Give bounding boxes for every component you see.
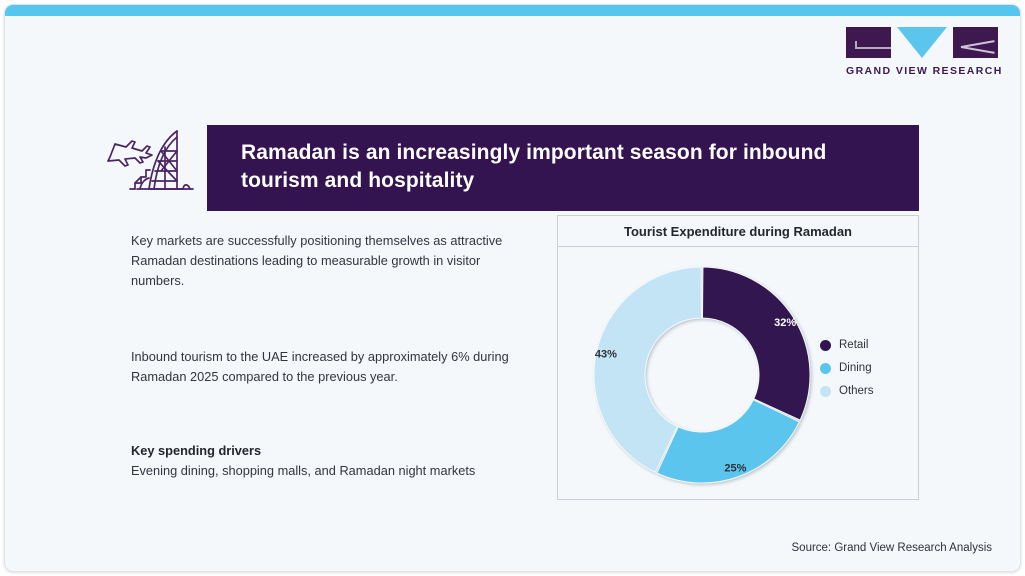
paragraph-2: Inbound tourism to the UAE increased by … [131,347,531,387]
legend-item-retail[interactable]: Retail [820,339,904,351]
logo-triangle-icon [897,27,947,58]
slice-value-label: 25% [724,463,746,475]
drivers-title: Key spending drivers [131,441,531,461]
source-note: Source: Grand View Research Analysis [792,542,993,554]
logo-marks [846,27,998,59]
headline-banner: Ramadan is an increasingly important sea… [207,125,919,211]
chart-panel: Tourist Expenditure during Ramadan 32%25… [557,215,919,500]
chart-header: Tourist Expenditure during Ramadan [558,216,918,247]
legend-dot-icon [820,340,831,351]
headline-text: Ramadan is an increasingly important sea… [241,139,889,195]
legend-dot-icon [820,363,831,374]
headline-row: Ramadan is an increasingly important sea… [105,117,919,211]
logo-box-right-icon [953,27,998,58]
brand-logo: GRAND VIEW RESEARCH [846,27,998,77]
slice-value-label: 43% [595,349,617,361]
paragraph-1: Key markets are successfully positioning… [131,231,531,290]
chart-legend: RetailDiningOthers [820,339,904,408]
donut-slices [594,267,810,483]
logo-wordmark: GRAND VIEW RESEARCH [846,65,998,77]
drivers-text: Evening dining, shopping malls, and Rama… [131,461,531,481]
donut-chart: 32%25%43% [580,253,824,497]
legend-label: Others [839,385,874,397]
legend-item-dining[interactable]: Dining [820,362,904,374]
slide-root: GRAND VIEW RESEARCH [0,0,1025,576]
legend-dot-icon [820,386,831,397]
legend-item-others[interactable]: Others [820,385,904,397]
top-accent-bar [5,5,1020,16]
body-copy: Key markets are successfully positioning… [131,231,531,481]
chart-body: 32%25%43% RetailDiningOthers [558,247,918,499]
slice-value-label: 32% [774,317,796,329]
donut-svg: 32%25%43% [580,253,824,497]
slide-card: GRAND VIEW RESEARCH [4,4,1021,572]
legend-label: Retail [839,339,868,351]
logo-box-left-icon [846,27,891,58]
legend-label: Dining [839,362,872,374]
burj-al-arab-airplane-icon [105,117,201,197]
donut-slice-retail [702,267,810,420]
chart-title: Tourist Expenditure during Ramadan [624,224,852,239]
